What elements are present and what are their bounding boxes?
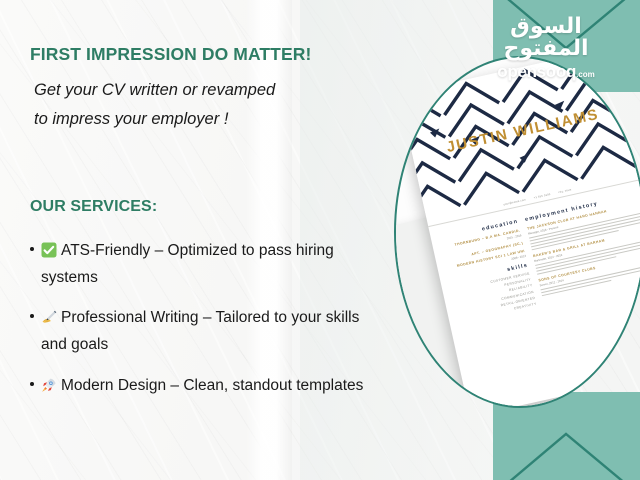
watermark-arabic-text: السوق المفتوح	[466, 16, 626, 60]
subheadline-line-1: Get your CV written or revamped	[34, 76, 374, 105]
list-item-content: Modern Design – Clean, standout template…	[41, 373, 363, 400]
list-item: Modern Design – Clean, standout template…	[30, 373, 386, 400]
ad-copy: FIRST IMPRESSION DO MATTER! Get your CV …	[0, 0, 400, 480]
opensooq-watermark: السوق المفتوح opensooq.com	[466, 16, 626, 80]
circle-frame: JUSTIN WILLIAMS your@email.com +1 555 01…	[394, 56, 640, 408]
resume-showcase: JUSTIN WILLIAMS your@email.com +1 555 01…	[394, 56, 640, 408]
services-heading: OUR SERVICES:	[30, 198, 157, 216]
watermark-brand: opensooq.com	[466, 63, 626, 80]
writing-hand-icon	[41, 309, 57, 325]
resume-right-column: employment history THE JACKSON CLUB AT H…	[523, 186, 640, 306]
watermark-brand-text: opensooq	[497, 62, 576, 81]
check-mark-button-icon	[41, 242, 57, 258]
bullet-dot-icon	[30, 247, 34, 251]
list-item-label: Professional Writing – Tailored to your …	[41, 309, 359, 353]
subheadline: Get your CV written or revamped to impre…	[34, 76, 374, 133]
contact-item: city, state	[558, 188, 572, 194]
list-item-label: ATS-Friendly – Optimized to pass hiring …	[41, 242, 334, 286]
bullet-dot-icon	[30, 382, 34, 386]
advertisement-canvas: JUSTIN WILLIAMS your@email.com +1 555 01…	[0, 0, 640, 480]
list-item: ATS-Friendly – Optimized to pass hiring …	[30, 238, 386, 291]
list-item: Professional Writing – Tailored to your …	[30, 305, 386, 358]
resume-left-column: education THORNBURG – B.A MA. CANDID. 20…	[437, 214, 538, 326]
rocket-icon	[41, 377, 57, 393]
list-item-content: Professional Writing – Tailored to your …	[41, 305, 386, 358]
list-item-label: Modern Design – Clean, standout template…	[61, 377, 363, 394]
list-item-content: ATS-Friendly – Optimized to pass hiring …	[41, 238, 386, 291]
bullet-dot-icon	[30, 314, 34, 318]
subheadline-line-2: to impress your employer !	[34, 105, 374, 134]
services-list: ATS-Friendly – Optimized to pass hiring …	[30, 238, 386, 413]
page-title: FIRST IMPRESSION DO MATTER!	[30, 44, 311, 65]
contact-item: +1 555 0100	[533, 193, 550, 200]
watermark-tld: .com	[576, 70, 595, 79]
